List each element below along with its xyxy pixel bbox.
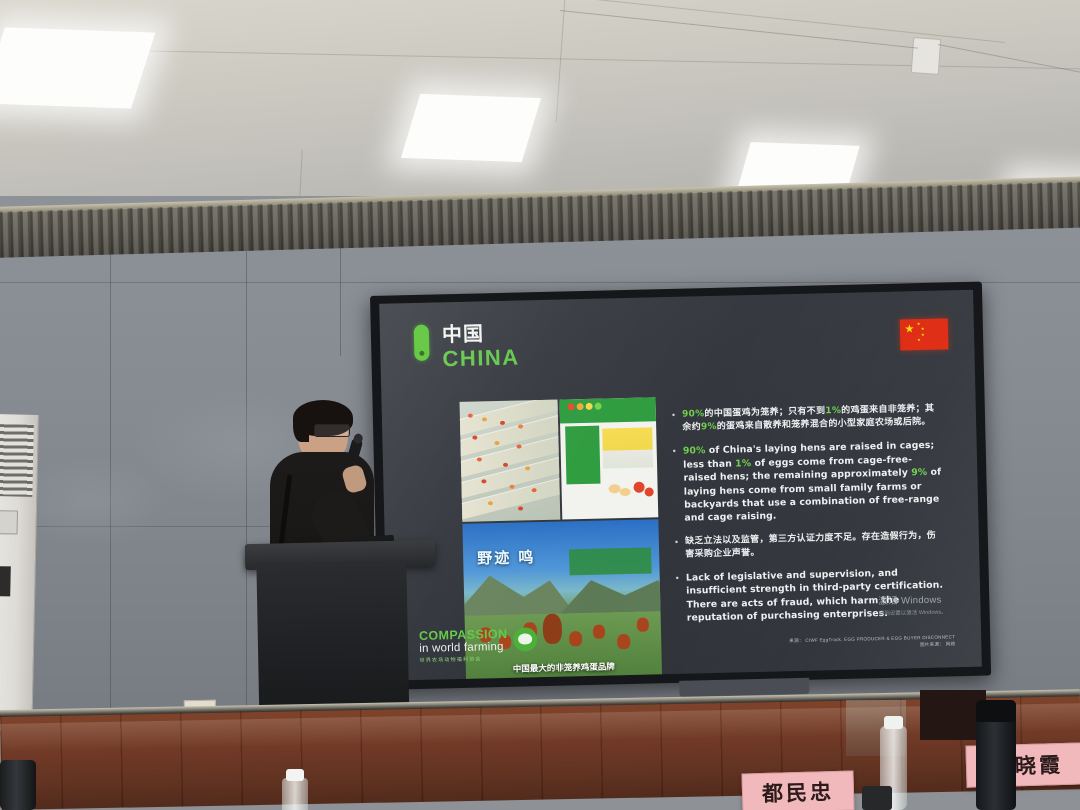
highlight-percentage: 90% [683,445,706,457]
highlight-percentage: 1% [825,406,841,416]
highlight-percentage: 9% [701,422,717,432]
ceiling-light-panel [401,94,541,162]
mug[interactable] [862,786,892,810]
slide-title-cn: 中国 [442,323,520,346]
water-bottle[interactable] [282,778,308,810]
bullet-text-run: 的蛋鸡来自散养和笼养混合的小型家庭农场或后院。 [717,417,931,432]
farm-banner [569,547,652,575]
conference-room-photo: 中国 CHINA [0,0,1080,810]
thermos-cap [976,700,1016,722]
bullet-dot-icon: • [676,572,680,626]
bottle-cap [884,716,903,729]
slide-bullet-text: 90% of China's laying hens are raised in… [683,439,943,526]
bottle-cap [286,769,304,781]
bullet-dot-icon: • [672,409,676,435]
slide-title-en: CHINA [442,345,520,371]
location-pin-icon [414,325,430,361]
ceiling-light-panel [0,27,155,108]
placard-name: 都民忠 [762,776,835,808]
watermark-line2: 转到设置以激活 Windows。 [879,608,947,618]
highlight-percentage: 9% [911,467,927,478]
bullet-text-run: 的中国蛋鸡为笼养；只有不到 [704,406,825,419]
slide-source-credit: 来源： CIWF EggTrack, EGG PRODUCER & EGG BU… [789,634,955,651]
slide-bullet: •90%的中国蛋鸡为笼养；只有不到1%的鸡蛋来自非笼养；其余约9%的蛋鸡来自散养… [672,403,941,435]
stage-front-wood-panel [0,695,1080,810]
watermark-line1: 激活 Windows [878,592,946,608]
bullet-dot-icon: • [673,445,678,526]
black-thermos[interactable] [976,700,1016,810]
slide-bullet: •缺乏立法以及监管，第三方认证力度不足。存在造假行为，伤害采购企业声誉。 [675,529,944,561]
supermarket-egg-shelf-image [460,400,561,522]
slide-bullet-text: 90%的中国蛋鸡为笼养；只有不到1%的鸡蛋来自非笼养；其余约9%的蛋鸡来自散养和… [682,403,940,435]
bullet-dot-icon: • [675,536,679,562]
slide-title: 中国 CHINA [414,323,520,373]
china-flag-icon [900,318,949,350]
bullet-text-run: 缺乏立法以及监管，第三方认证力度不足。存在造假行为，伤害采购企业声誉。 [685,531,936,560]
glasses-icon [314,424,350,437]
ceiling-sensor-box [911,37,941,75]
windows-activation-watermark: 激活 Windows 转到设置以激活 Windows。 [878,592,946,618]
ac-display [0,510,18,534]
highlight-percentage: 90% [682,409,705,420]
air-conditioner[interactable] [0,414,39,731]
ac-grille-icon [0,424,34,497]
presenter-hair-side [293,410,309,442]
presentation-screen[interactable]: 中国 CHINA [370,282,991,690]
compassion-in-world-farming-logo: COMPASSION in world farming 世界农场动物福利协会 [419,627,536,663]
farm-brand-text: 野迹 鸣 [477,546,536,568]
egg-product-ad-image [559,397,658,519]
black-thermos[interactable] [0,760,36,810]
slide-bullet-text: 缺乏立法以及监管，第三方认证力度不足。存在造假行为，伤害采购企业声誉。 [685,529,943,561]
name-placard: 都民忠 [741,770,854,810]
slide-china: 中国 CHINA [379,290,982,681]
highlight-percentage: 1% [735,458,751,469]
slide-bullet: •90% of China's laying hens are raised i… [673,439,943,526]
screen-display[interactable]: 中国 CHINA [379,290,982,681]
ac-vent [0,566,11,596]
